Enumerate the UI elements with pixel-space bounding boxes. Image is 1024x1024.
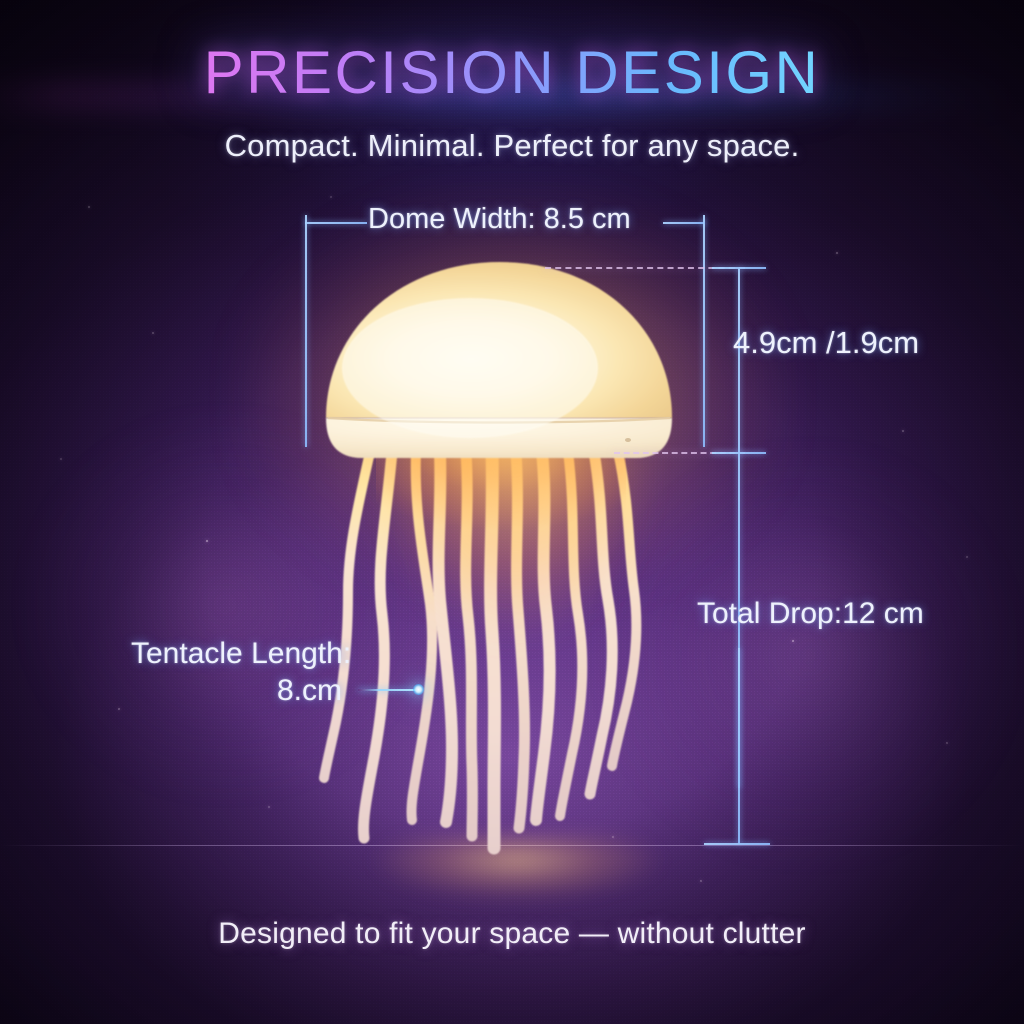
- dome-width-tick-top-right: [703, 222, 705, 224]
- tentacle-length-label-line2: 8.cm: [277, 674, 342, 708]
- tentacle-length-leader-line: [358, 689, 420, 691]
- total-drop-tick-bottom: [704, 843, 770, 845]
- tentacle-length-leader-dot: [413, 684, 424, 695]
- dome-width-line-left: [305, 222, 367, 224]
- tentacle-length-label-line1: Tentacle Length:: [131, 637, 351, 671]
- dome-width-line-right: [663, 222, 705, 224]
- total-drop-line: [738, 648, 740, 844]
- dome-height-tick-mid: [712, 452, 766, 454]
- dome-width-label: Dome Width: 8.5 cm: [368, 203, 631, 236]
- dome-width-extension-left: [305, 215, 307, 447]
- dome-height-tick-top: [712, 267, 766, 269]
- lamp-dome: [0, 0, 1024, 1024]
- footer-tagline: Designed to fit your space — without clu…: [0, 917, 1024, 951]
- dome-width-extension-right: [703, 215, 705, 447]
- dome-height-label: 4.9cm /1.9cm: [733, 325, 919, 361]
- infographic-canvas: PRECISION DESIGN Compact. Minimal. Perfe…: [0, 0, 1024, 1024]
- total-drop-label: Total Drop:12 cm: [697, 597, 924, 631]
- product-illustration: [0, 0, 1024, 1024]
